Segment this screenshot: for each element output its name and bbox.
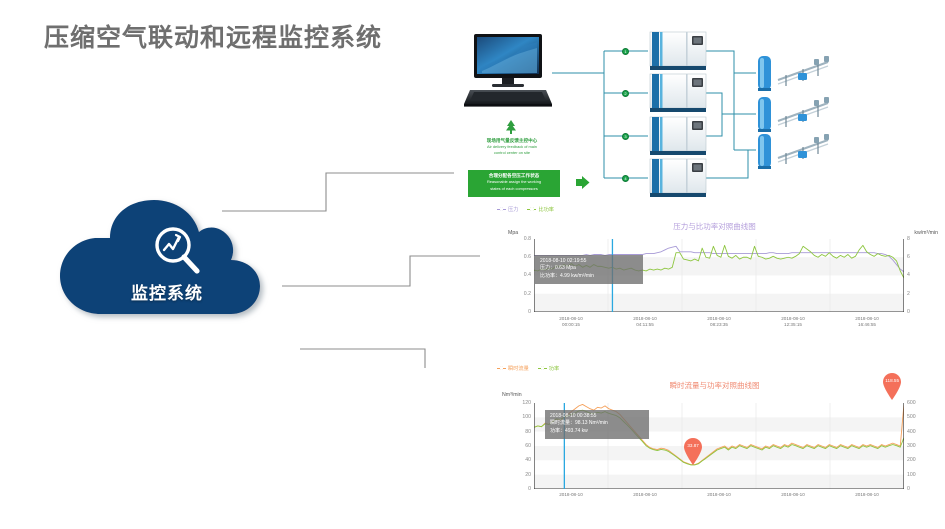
- chart2-y-unit: Nm³/min: [502, 392, 522, 398]
- legend-swatch: [497, 209, 506, 210]
- axis-tick: 80: [511, 429, 531, 435]
- legend-label: 压力: [508, 206, 518, 213]
- min-marker[interactable]: 33.87: [683, 437, 703, 465]
- legend-swatch: [527, 209, 536, 210]
- chart1-title: 压力与比功率对照曲线图: [487, 221, 942, 232]
- axis-tick: 400: [907, 429, 916, 435]
- marker-label: 33.87: [683, 443, 703, 448]
- chart2-title: 瞬时流量与功率对照曲线图: [487, 380, 942, 391]
- axis-tick: 120: [511, 400, 531, 406]
- monitoring-system-cloud[interactable]: 监控系统: [42, 196, 292, 326]
- air-compressor-icon: [648, 157, 708, 199]
- chart1-tooltip-line2: 比功率：4.99 kw/m³/min: [540, 273, 638, 280]
- green-box-en-1: Reasonable assign the working: [468, 180, 560, 185]
- axis-tick: 8: [907, 236, 910, 242]
- axis-tick: 6: [907, 254, 910, 260]
- axis-tick: 0.8: [511, 236, 531, 242]
- page-title: 压缩空气联动和远程监控系统: [44, 18, 382, 54]
- caption-cn: 现场用气量反馈主控中心: [456, 138, 568, 144]
- system-schematic-diagram: 现场用气量反馈主控中心 Air delivery feedback of mai…: [452, 26, 940, 198]
- axis-tick: 100: [511, 414, 531, 420]
- chart1-y2-unit: kw/m³/min: [914, 230, 938, 236]
- node-dot-3: 3: [622, 133, 629, 140]
- axis-tick: 0.2: [511, 291, 531, 297]
- x-axis-tick: 2018-08-10: [691, 492, 747, 498]
- marker-label: 118.55: [882, 378, 902, 383]
- flow-power-chart[interactable]: 瞬时流量功率 瞬时流量与功率对照曲线图 Nm³/min 120100806040…: [487, 362, 942, 522]
- green-box-en-2: states of each compressors: [468, 187, 560, 192]
- legend-label: 功率: [549, 365, 559, 372]
- node-3-label: 3: [623, 134, 628, 139]
- axis-tick: 0.6: [511, 254, 531, 260]
- x-axis-tick: 2018-08-10: [617, 492, 673, 498]
- slide-canvas: 压缩空气联动和远程监控系统 监控系统: [0, 0, 945, 529]
- axis-tick: 2: [907, 291, 910, 297]
- node-dot-2: 2: [622, 90, 629, 97]
- caption-en-2: control center on site: [456, 151, 568, 156]
- map-pin-icon: [683, 437, 703, 465]
- legend-label: 瞬时流量: [508, 365, 529, 372]
- air-tank-distribution-icon: [756, 54, 834, 92]
- axis-tick: 0: [511, 309, 531, 315]
- air-compressor-icon: [648, 30, 708, 72]
- x-axis-tick: 2018-08-10: [543, 492, 599, 498]
- node-dot-4: 4: [622, 175, 629, 182]
- air-tank-distribution-icon: [756, 132, 834, 170]
- axis-tick: 300: [907, 443, 916, 449]
- chart1-tooltip-line1: 压力：0.63 Mpa: [540, 265, 638, 272]
- air-tank-distribution-icon: [756, 95, 834, 133]
- caption-en-1: Air delivery feedback of main: [456, 145, 568, 150]
- axis-tick: 0: [907, 486, 910, 492]
- x-axis-tick: 2018-08-1008:23:35: [691, 316, 747, 328]
- axis-tick: 20: [511, 472, 531, 478]
- chart2-tooltip-line2: 功率：493.74 kw: [550, 428, 644, 435]
- node-1-label: 1: [623, 49, 628, 54]
- schematic-caption: 现场用气量反馈主控中心 Air delivery feedback of mai…: [456, 138, 568, 155]
- node-4-label: 4: [623, 176, 628, 181]
- green-box-cn: 合理分配各空压工作状态: [468, 173, 560, 179]
- tree-icon: [504, 120, 518, 135]
- chart1-tooltip: 2018-08-10 02:19:55 压力：0.63 Mpa 比功率：4.99…: [535, 255, 643, 284]
- axis-tick: 100: [907, 472, 916, 478]
- chart2-tooltip: 2018-08-10 00:38:55 瞬时流量：98.13 Nm³/min 功…: [545, 410, 649, 439]
- node-2-label: 2: [623, 91, 628, 96]
- axis-tick: 0.4: [511, 272, 531, 278]
- chart2-legend[interactable]: 瞬时流量功率: [497, 365, 559, 372]
- x-axis-tick: 2018-08-1012:35:15: [765, 316, 821, 328]
- axis-tick: 0: [511, 486, 531, 492]
- legend-item-0[interactable]: 压力: [497, 206, 518, 213]
- legend-item-1[interactable]: 功率: [538, 365, 559, 372]
- chart1-legend[interactable]: 压力比功率: [497, 206, 554, 213]
- magnifier-chart-icon: [148, 222, 208, 280]
- legend-swatch: [538, 368, 547, 369]
- x-axis-tick: 2018-08-10: [765, 492, 821, 498]
- air-compressor-icon: [648, 72, 708, 114]
- x-axis-tick: 2018-08-10: [839, 492, 895, 498]
- cloud-label: 监控系统: [42, 279, 292, 304]
- green-callout-box: 合理分配各空压工作状态 Reasonable assign the workin…: [468, 170, 560, 197]
- air-compressor-icon: [648, 115, 708, 157]
- axis-tick: 200: [907, 457, 916, 463]
- arrow-right-icon: [576, 176, 590, 189]
- legend-label: 比功率: [538, 206, 554, 213]
- axis-tick: 4: [907, 272, 910, 278]
- x-axis-tick: 2018-08-1016:46:55: [839, 316, 895, 328]
- x-axis-tick: 2018-08-1000:00:15: [543, 316, 599, 328]
- pressure-specific-power-chart[interactable]: 压力比功率 压力与比功率对照曲线图 Mpa kw/m³/min 0.80.60.…: [487, 203, 942, 331]
- axis-tick: 500: [907, 414, 916, 420]
- max-marker[interactable]: 118.55: [882, 372, 902, 400]
- chart2-tooltip-line1: 瞬时流量：98.13 Nm³/min: [550, 420, 644, 427]
- map-pin-icon: [882, 372, 902, 400]
- axis-tick: 40: [511, 457, 531, 463]
- axis-tick: 60: [511, 443, 531, 449]
- node-dot-1: 1: [622, 48, 629, 55]
- axis-tick: 600: [907, 400, 916, 406]
- legend-item-0[interactable]: 瞬时流量: [497, 365, 529, 372]
- computer-monitor-icon: [464, 32, 554, 110]
- legend-swatch: [497, 368, 506, 369]
- x-axis-tick: 2018-08-1004:11:55: [617, 316, 673, 328]
- legend-item-1[interactable]: 比功率: [527, 206, 554, 213]
- axis-tick: 0: [907, 309, 910, 315]
